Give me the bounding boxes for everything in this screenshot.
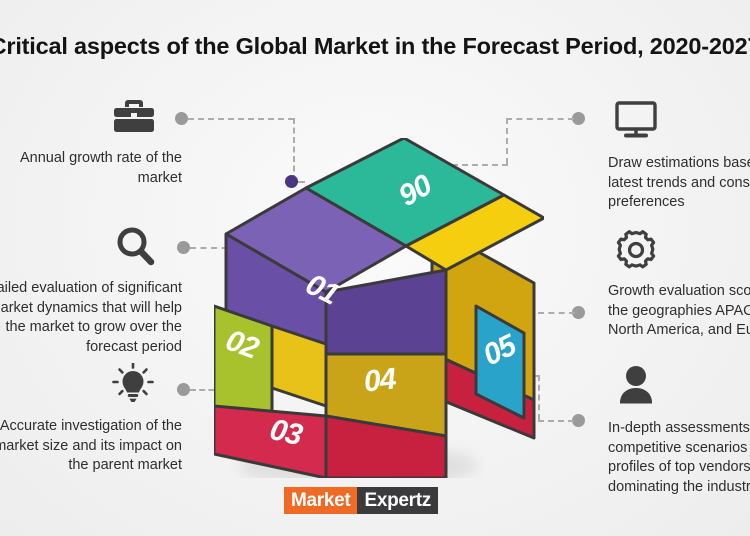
page-title: Critical aspects of the Global Market in… — [0, 33, 750, 60]
connector-dot-outer — [175, 112, 188, 125]
lightbulb-icon — [0, 363, 182, 409]
feature-text: Annual growth rate of the market — [0, 149, 182, 188]
infographic-canvas: Critical aspects of the Global Market in… — [0, 0, 750, 536]
feature-detailed-evaluation: Detailed evaluation of significant marke… — [0, 225, 182, 357]
gear-icon — [608, 228, 750, 274]
feature-accurate-investigation: Accurate investigation of the market siz… — [0, 363, 182, 476]
connector-segment — [506, 118, 574, 120]
connector-dot-outer — [177, 383, 190, 396]
briefcase-icon — [0, 95, 182, 141]
feature-text: Detailed evaluation of significant marke… — [0, 279, 182, 357]
feature-draw-estimations: Draw estimations based on the latest tre… — [608, 100, 750, 213]
logo-expertz: Expertz — [357, 487, 438, 514]
cube-diagram: 01 02 03 04 05 06 — [214, 138, 544, 478]
person-icon — [608, 365, 750, 411]
brand-logo: Market Expertz — [284, 487, 438, 514]
connector-segment — [188, 118, 294, 120]
magnifier-icon — [0, 225, 182, 271]
feature-growth-evaluation-scope: Growth evaluation scope across the geogr… — [608, 228, 750, 341]
feature-annual-growth: Annual growth rate of the market — [0, 95, 182, 188]
monitor-icon — [608, 100, 750, 146]
feature-text: Accurate investigation of the market siz… — [0, 417, 182, 476]
logo-market: Market — [284, 487, 357, 514]
feature-text: Draw estimations based on the latest tre… — [608, 154, 750, 213]
feature-text: In-depth assessments of competitive scen… — [608, 419, 750, 497]
connector-dot-outer — [177, 241, 190, 254]
feature-text: Growth evaluation scope across the geogr… — [608, 282, 750, 341]
feature-competitive-assessment: In-depth assessments of competitive scen… — [608, 365, 750, 497]
